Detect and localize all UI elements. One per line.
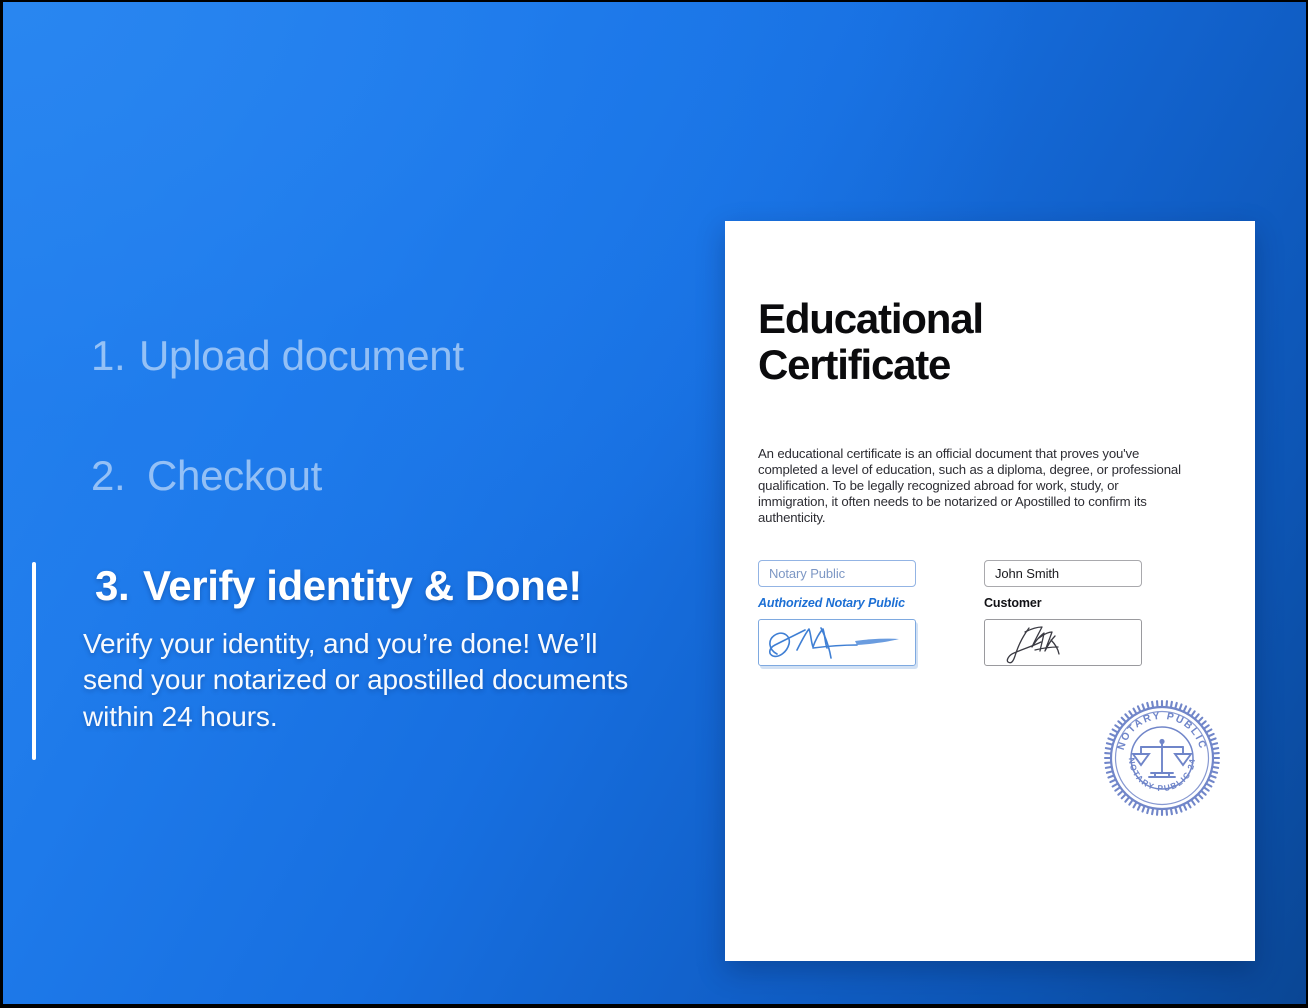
step-label: Checkout: [147, 452, 322, 500]
certificate-card: Educational Certificate An educational c…: [725, 221, 1255, 961]
signature-block-customer: John Smith Customer: [984, 560, 1142, 666]
certificate-content: Educational Certificate An educational c…: [758, 296, 1223, 666]
step-number: 1.: [3, 332, 139, 380]
active-step-block: 3. Verify identity & Done! Verify your i…: [3, 562, 673, 735]
step-item-checkout[interactable]: 2. Checkout: [3, 452, 673, 500]
promo-slide: 1. Upload document 2. Checkout 3. Verify…: [0, 0, 1308, 1008]
signature-grid: Notary Public Authorized Notary Public: [758, 560, 1223, 666]
step-number: 2.: [3, 452, 147, 500]
notary-signature-icon: [759, 620, 915, 665]
customer-signature-icon: [985, 620, 1141, 665]
customer-name-field[interactable]: John Smith: [984, 560, 1142, 587]
customer-role-label: Customer: [984, 596, 1142, 610]
step-item-upload-document[interactable]: 1. Upload document: [3, 332, 673, 380]
notary-role-label: Authorized Notary Public: [758, 596, 916, 610]
customer-signature-box[interactable]: [984, 619, 1142, 666]
step-label: Upload document: [139, 332, 464, 380]
signature-block-notary: Notary Public Authorized Notary Public: [758, 560, 916, 666]
step-item-verify-identity[interactable]: 3. Verify identity & Done!: [83, 562, 673, 610]
notary-seal-icon: NOTARY PUBLIC NOTARY PUBLIC 24: [1101, 697, 1223, 819]
step-number: 3.: [95, 562, 143, 610]
certificate-title: Educational Certificate: [758, 296, 1058, 388]
notary-name-field[interactable]: Notary Public: [758, 560, 916, 587]
step-label: Verify identity & Done!: [143, 562, 582, 610]
notary-signature-box[interactable]: [758, 619, 916, 666]
notary-seal: NOTARY PUBLIC NOTARY PUBLIC 24: [1101, 697, 1223, 819]
certificate-body-text: An educational certificate is an officia…: [758, 446, 1190, 525]
steps-list: 1. Upload document 2. Checkout 3. Verify…: [3, 332, 673, 735]
scales-of-justice-icon: [1133, 739, 1191, 777]
active-step-description: Verify your identity, and you’re done! W…: [83, 626, 643, 735]
active-step-accent-bar: [32, 562, 36, 760]
